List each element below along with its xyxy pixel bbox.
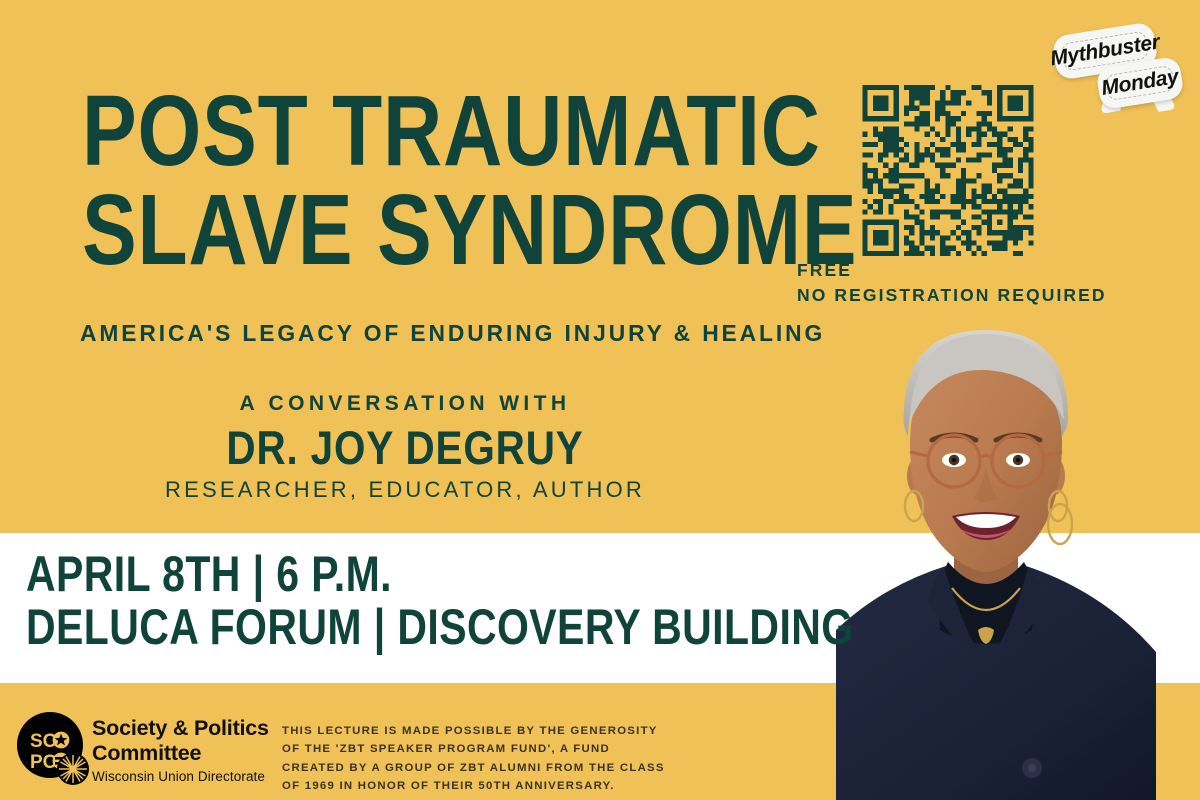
- poster-subtitle: AMERICA'S LEGACY OF ENDURING INJURY & HE…: [80, 320, 825, 347]
- sunburst-badge: [57, 753, 89, 785]
- poster-headline: POST TRAUMATIC SLAVE SYNDROME: [82, 82, 802, 280]
- disclaimer-line-1: THIS LECTURE IS MADE POSSIBLE BY THE GEN…: [282, 722, 682, 740]
- event-details: APRIL 8TH | 6 P.M. DELUCA FORUM | DISCOV…: [26, 548, 1035, 654]
- conversation-lead-in: A CONVERSATION WITH: [0, 392, 810, 416]
- disclaimer-line-4: OF 1969 IN HONOR OF THEIR 50TH ANNIVERSA…: [282, 777, 682, 795]
- event-poster: POST TRAUMATIC SLAVE SYNDROME AMERICA'S …: [0, 0, 1200, 800]
- disclaimer-line-2: OF THE 'ZBT SPEAKER PROGRAM FUND', A FUN…: [282, 740, 682, 758]
- sopo-logo: SO PO: [17, 712, 91, 786]
- org-name-line-1: Society & Politics: [92, 716, 269, 741]
- qr-code[interactable]: [855, 85, 1041, 256]
- speaker-role: RESEARCHER, EDUCATOR, AUTHOR: [0, 477, 810, 503]
- registration-free: FREE: [797, 258, 1107, 283]
- org-parent-name: Wisconsin Union Directorate: [92, 769, 269, 784]
- org-name-line-2: Committee: [92, 741, 269, 766]
- conversation-block: A CONVERSATION WITH DR. JOY DEGRUY RESEA…: [0, 392, 810, 503]
- sticker-monday-label: Monday: [1100, 65, 1180, 101]
- headline-line-1: POST TRAUMATIC: [82, 82, 672, 181]
- funding-disclaimer: THIS LECTURE IS MADE POSSIBLE BY THE GEN…: [282, 722, 682, 796]
- speaker-name: DR. JOY DEGRUY: [57, 424, 754, 471]
- event-date-time: APRIL 8TH | 6 P.M.: [26, 548, 854, 601]
- event-venue: DELUCA FORUM | DISCOVERY BUILDING: [26, 601, 854, 654]
- headline-line-2: SLAVE SYNDROME: [82, 181, 672, 280]
- organization-text: Society & Politics Committee Wisconsin U…: [92, 716, 269, 784]
- disclaimer-line-3: CREATED BY A GROUP OF ZBT ALUMNI FROM TH…: [282, 759, 682, 777]
